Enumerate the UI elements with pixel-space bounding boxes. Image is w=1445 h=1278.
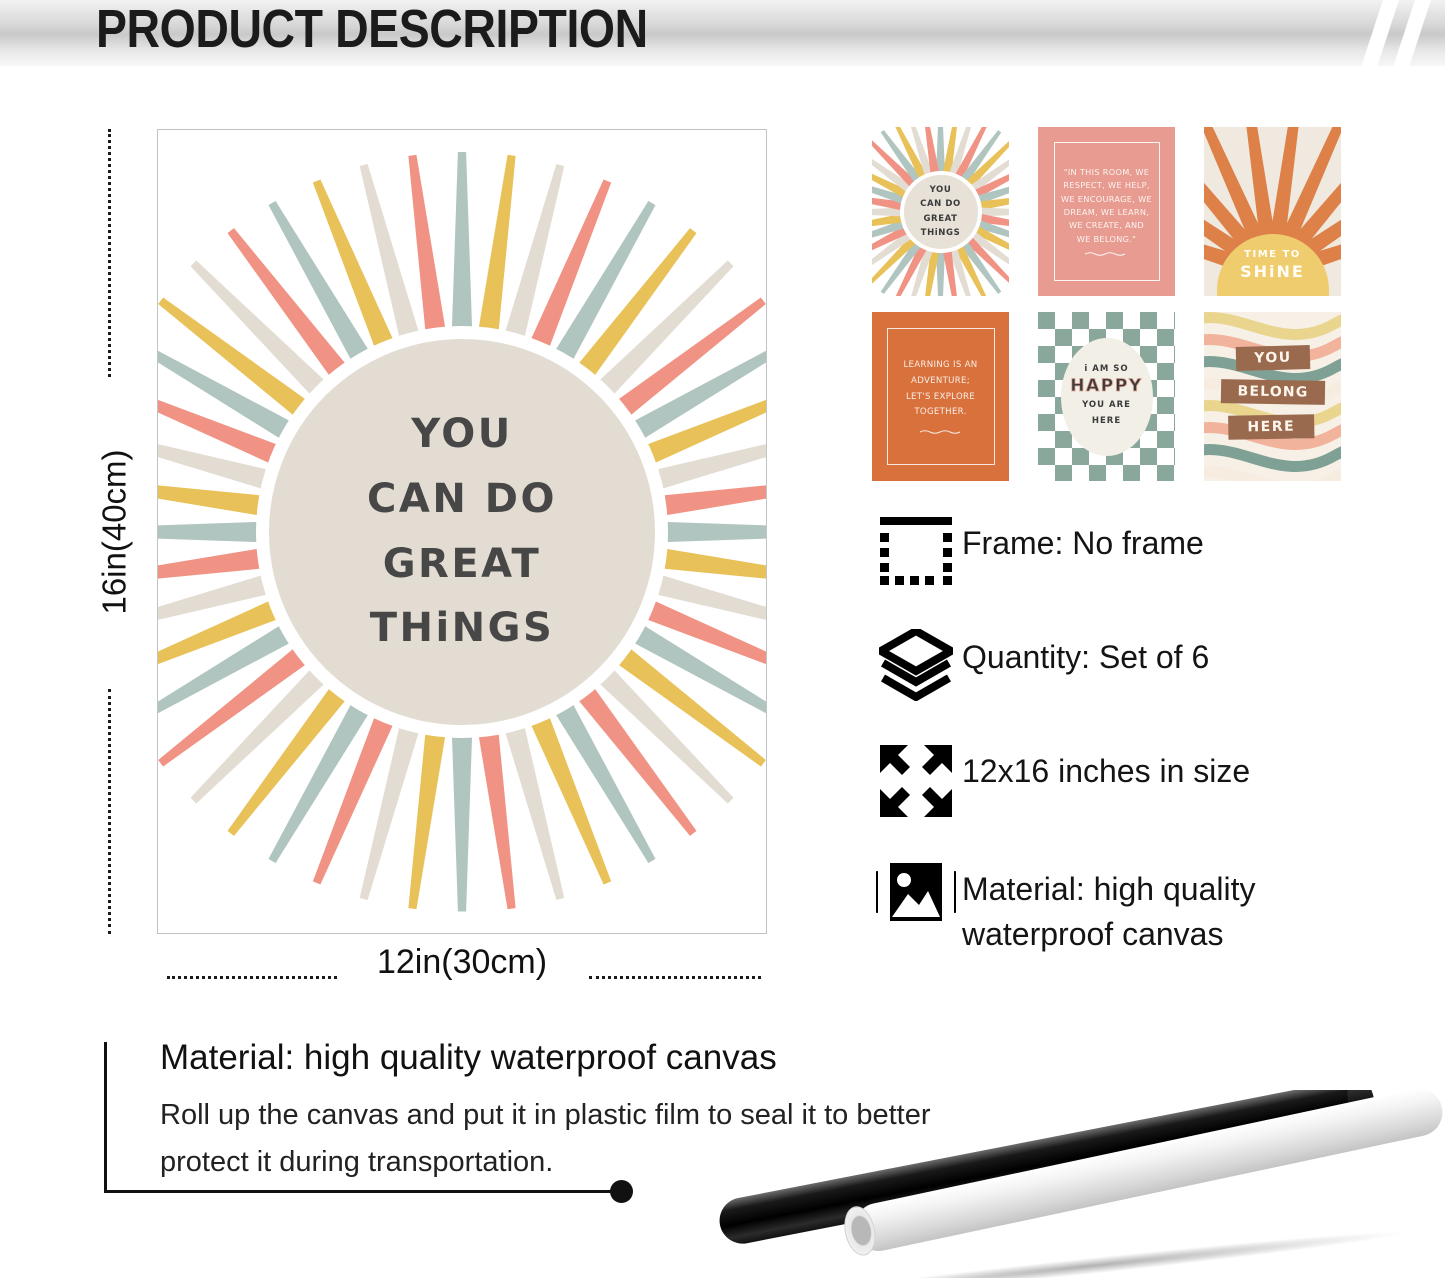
- squiggle-icon: [919, 429, 963, 435]
- height-dotted-line-top: [108, 129, 111, 377]
- material-note-title: Material: high quality waterproof canvas: [160, 1038, 777, 1078]
- poster-center-circle: YOU CAN DO GREAT THiNGS: [256, 326, 668, 738]
- width-dotted-line-right: [589, 976, 761, 979]
- happy-line-1: i AM SO: [1084, 364, 1128, 374]
- belong-tag-2: BELONG: [1220, 379, 1324, 405]
- height-label: 16in(40cm): [96, 449, 134, 614]
- mini-line-1: YOU: [930, 183, 952, 197]
- checker-cell: [1157, 431, 1174, 448]
- resize-arrows-icon: [870, 743, 962, 819]
- checker-cell: [1140, 312, 1157, 329]
- poster-line-2: CAN DO: [367, 467, 557, 532]
- checker-cell: [1174, 312, 1175, 329]
- happy-line-4: HERE: [1092, 414, 1121, 430]
- learning-line-3: LET'S EXPLORE: [906, 390, 975, 406]
- quote-frame: LEARNING IS AN ADVENTURE; LET'S EXPLORE …: [887, 328, 995, 465]
- height-dotted-line-bottom: [108, 689, 111, 934]
- checker-cell: [1089, 465, 1106, 481]
- checker-cell: [1123, 465, 1140, 481]
- feature-label-frame: Frame: No frame: [962, 515, 1204, 566]
- quote-line-2: RESPECT, WE HELP,: [1063, 179, 1150, 192]
- quote-line-5: WE CREATE, AND: [1069, 219, 1144, 232]
- checker-cell: [1157, 465, 1174, 481]
- checker-cell: [1038, 414, 1055, 431]
- width-dotted-line-left: [167, 976, 337, 979]
- shine-line-1: TIME TO: [1244, 249, 1301, 260]
- poster-line-1: YOU: [411, 402, 513, 467]
- frame-icon: [870, 515, 962, 587]
- poster-line-3: GREAT: [383, 532, 542, 597]
- width-label: 12in(30cm): [377, 943, 547, 982]
- quote-line-4: DREAM, WE LEARN,: [1064, 206, 1149, 219]
- checker-cell: [1038, 448, 1055, 465]
- checker-cell: [1038, 346, 1055, 363]
- feature-label-material: Material: high quality waterproof canvas: [962, 861, 1362, 958]
- mini-center-circle: YOU CAN DO GREAT THiNGS: [900, 171, 982, 253]
- layers-icon: [870, 629, 962, 701]
- feature-label-size: 12x16 inches in size: [962, 743, 1250, 794]
- checker-cell: [1174, 448, 1175, 465]
- checker-cell: [1055, 431, 1072, 448]
- quote-line-3: WE ENCOURAGE, WE: [1061, 193, 1152, 206]
- checker-cell: [1157, 397, 1174, 414]
- checker-cell: [1038, 380, 1055, 397]
- feature-row-quantity: Quantity: Set of 6: [870, 629, 1390, 701]
- checker-cell: [1055, 329, 1072, 346]
- bracket-vertical: [104, 1042, 107, 1190]
- feature-label-quantity: Quantity: Set of 6: [962, 629, 1209, 680]
- happy-line-3: YOU ARE: [1082, 398, 1131, 414]
- height-dimension-guide: 16in(40cm): [96, 129, 122, 934]
- thumbnail-in-this-room[interactable]: "IN THIS ROOM, WE RESPECT, WE HELP, WE E…: [1038, 127, 1175, 296]
- quote-line-1: "IN THIS ROOM, WE: [1064, 166, 1150, 179]
- checker-cell: [1140, 448, 1157, 465]
- feature-row-frame: Frame: No frame: [870, 515, 1390, 587]
- checker-cell: [1157, 329, 1174, 346]
- feature-row-size: 12x16 inches in size: [870, 743, 1390, 819]
- page-header: PRODUCT DESCRIPTION: [0, 0, 1445, 66]
- thumbnail-i-am-so-happy-you-are-here[interactable]: i AM SO HAPPY YOU ARE HERE: [1038, 312, 1175, 481]
- packaging-photo: [660, 1090, 1445, 1278]
- mini-line-2: CAN DO: [920, 197, 961, 211]
- checker-cell: [1106, 312, 1123, 329]
- checker-cell: [1174, 380, 1175, 397]
- thumbnail-you-can-do-great-things[interactable]: YOU CAN DO GREAT THiNGS: [872, 127, 1009, 296]
- quote-frame: "IN THIS ROOM, WE RESPECT, WE HELP, WE E…: [1054, 142, 1160, 281]
- bracket-horizontal: [104, 1190, 616, 1193]
- checker-cell: [1072, 448, 1089, 465]
- width-dimension-guide: 12in(30cm): [157, 957, 767, 997]
- checker-cell: [1072, 312, 1089, 329]
- poster-line-4: THiNGS: [370, 596, 555, 661]
- learning-line-1: LEARNING IS AN: [903, 358, 977, 374]
- thumbnail-learning-is-an-adventure[interactable]: LEARNING IS AN ADVENTURE; LET'S EXPLORE …: [872, 312, 1009, 481]
- image-icon: [870, 861, 962, 923]
- learning-line-2: ADVENTURE;: [911, 374, 970, 390]
- oval-shape: i AM SO HAPPY YOU ARE HERE: [1061, 338, 1153, 456]
- checker-cell: [1055, 465, 1072, 481]
- squiggle-icon: [1084, 251, 1130, 257]
- learning-line-4: TOGETHER.: [914, 405, 966, 421]
- poster-canvas: YOU CAN DO GREAT THiNGS: [157, 129, 767, 934]
- happy-line-2: HAPPY: [1070, 376, 1143, 396]
- mini-line-3: GREAT: [923, 212, 957, 226]
- main-poster: YOU CAN DO GREAT THiNGS: [157, 129, 767, 934]
- belong-tag-1: YOU: [1235, 345, 1310, 371]
- checker-cell: [1038, 312, 1055, 329]
- quote-line-6: WE BELONG.": [1077, 233, 1137, 246]
- checker-cell: [1174, 414, 1175, 431]
- checker-cell: [1157, 363, 1174, 380]
- thumbnail-grid: YOU CAN DO GREAT THiNGS "IN THIS ROOM, W…: [872, 127, 1342, 491]
- belong-tag-3: HERE: [1228, 414, 1314, 439]
- checker-cell: [1174, 346, 1175, 363]
- feature-list: Frame: No frame Quantity: Set of 6 12x16…: [870, 515, 1390, 1000]
- feature-row-material: Material: high quality waterproof canvas: [870, 861, 1390, 958]
- mini-line-4: THiNGS: [921, 226, 961, 240]
- thumbnail-you-belong-here[interactable]: YOU BELONG HERE: [1204, 312, 1341, 481]
- page-title: PRODUCT DESCRIPTION: [96, 0, 648, 60]
- thumbnail-time-to-shine[interactable]: TIME TO SHiNE: [1204, 127, 1341, 296]
- shine-line-2: SHiNE: [1240, 262, 1305, 281]
